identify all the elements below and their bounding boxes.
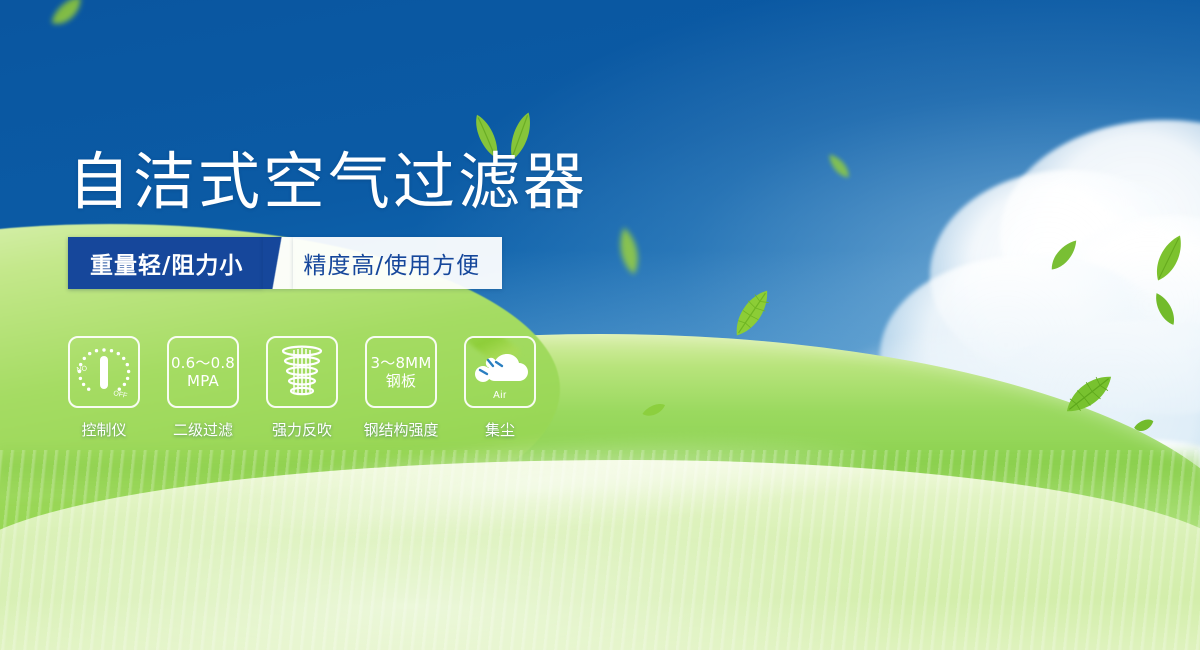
feature-label-steel-strength: 钢结构强度 <box>364 419 439 440</box>
feature-icon-box-dust-collection: Air <box>464 336 536 408</box>
filter-cartridge-icon <box>276 344 328 400</box>
subtitle-left-tag: 重量轻/阻力小 <box>68 237 263 289</box>
subtitle-slant-divider <box>263 237 293 289</box>
feature-label-secondary-filter: 二级过滤 <box>173 419 233 440</box>
feature-item-secondary-filter[interactable]: 0.6～0.8 MPA 二级过滤 <box>167 336 239 440</box>
feature-box-text-pressure-unit: MPA <box>187 372 219 390</box>
feature-item-dust-collection[interactable]: Air 集尘 <box>464 336 536 440</box>
feature-icon-box-steel-strength: 3～8MM 钢板 <box>365 336 437 408</box>
feature-box-text-steel-thickness: 3～8MM <box>371 354 432 372</box>
feature-item-steel-strength[interactable]: 3～8MM 钢板 钢结构强度 <box>365 336 437 440</box>
banner-hero: 自洁式空气过滤器 重量轻/阻力小 精度高/使用方便 <box>0 0 1200 650</box>
feature-box-text-pressure-range: 0.6～0.8 <box>171 354 235 372</box>
subtitle-right-tag: 精度高/使用方便 <box>293 237 502 289</box>
feature-icon-box-backblow <box>266 336 338 408</box>
cloud-air-icon <box>472 350 528 390</box>
feature-item-controller[interactable]: NO OFF 控制仪 <box>68 336 140 440</box>
feature-label-dust-collection: 集尘 <box>485 419 515 440</box>
feature-icon-box-controller: NO OFF <box>68 336 140 408</box>
feature-item-backblow[interactable]: 强力反吹 <box>266 336 338 440</box>
feature-icon-box-secondary-filter: 0.6～0.8 MPA <box>167 336 239 408</box>
page-title: 自洁式空气过滤器 <box>68 144 588 220</box>
gauge-dial-icon: NO OFF <box>74 344 134 400</box>
subtitle-bar: 重量轻/阻力小 精度高/使用方便 <box>68 237 502 289</box>
svg-text:NO: NO <box>76 365 88 374</box>
feature-label-backblow: 强力反吹 <box>272 419 332 440</box>
feature-box-text-air: Air <box>466 390 534 401</box>
svg-text:OFF: OFF <box>113 390 128 400</box>
feature-list: NO OFF 控制仪 0.6～0.8 MPA 二级过滤 <box>68 336 536 440</box>
banner-content: 自洁式空气过滤器 重量轻/阻力小 精度高/使用方便 <box>0 0 1200 650</box>
feature-box-text-steel-plate: 钢板 <box>386 372 416 390</box>
feature-label-controller: 控制仪 <box>81 419 126 440</box>
